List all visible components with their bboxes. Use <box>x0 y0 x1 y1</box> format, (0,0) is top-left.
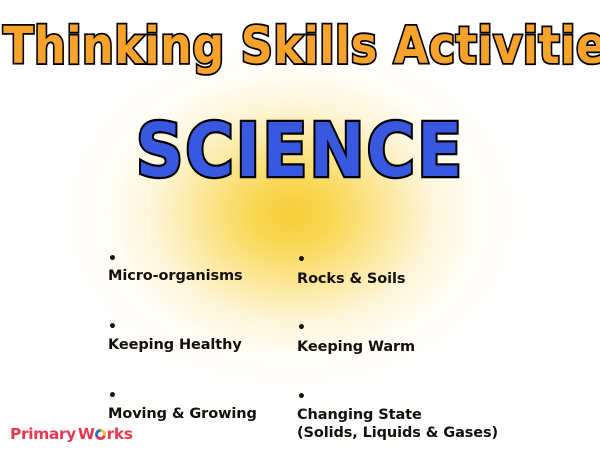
bullet-icon: • <box>297 320 306 336</box>
logo-text-rks: rks <box>107 425 133 443</box>
topic-column-left: • Micro-organisms • Keeping Healthy • Mo… <box>108 233 293 450</box>
subject-title: SCIENCE <box>136 112 464 190</box>
page-title: Thinking Skills Activities <box>3 18 600 73</box>
topic-label: Moving & Growing <box>108 406 257 422</box>
topic-item: • Rocks & Soils <box>297 233 547 288</box>
topic-label: Keeping Warm <box>297 339 415 355</box>
heading-row: Thinking Skills Activities <box>0 18 600 68</box>
topic-column-right: • Rocks & Soils • Keeping Warm • Changin… <box>297 233 547 450</box>
primaryworks-logo[interactable]: Primary W rks <box>10 425 133 443</box>
bullet-icon: • <box>108 388 117 404</box>
topic-label: Micro-organisms <box>108 268 243 284</box>
topic-item: • Micro-organisms <box>108 233 293 286</box>
bullet-icon: • <box>297 252 306 268</box>
poster-canvas: Thinking Skills Activities SCIENCE • Mic… <box>0 0 600 450</box>
topic-item: • Keeping Healthy <box>108 302 293 355</box>
topic-item: • Teeth <box>108 439 293 450</box>
bullet-icon: • <box>297 389 306 405</box>
subject-row: SCIENCE <box>0 112 600 181</box>
bullet-icon: • <box>108 319 117 335</box>
topic-label: Keeping Healthy <box>108 337 242 353</box>
topic-label: Rocks & Soils <box>297 271 405 287</box>
bullet-icon: • <box>108 251 117 267</box>
logo-text-primary: Primary <box>10 425 76 443</box>
logo-colored-dot-icon <box>95 429 106 440</box>
topic-lists: • Micro-organisms • Keeping Healthy • Mo… <box>0 233 600 423</box>
topic-item: • Changing State (Solids, Liquids & Gase… <box>297 369 547 442</box>
topic-item: • Moving & Growing <box>108 370 293 423</box>
topic-label: Changing State (Solids, Liquids & Gases) <box>297 407 498 441</box>
topic-item: • Keeping Warm <box>297 301 547 356</box>
logo-text-w: W <box>78 425 95 443</box>
